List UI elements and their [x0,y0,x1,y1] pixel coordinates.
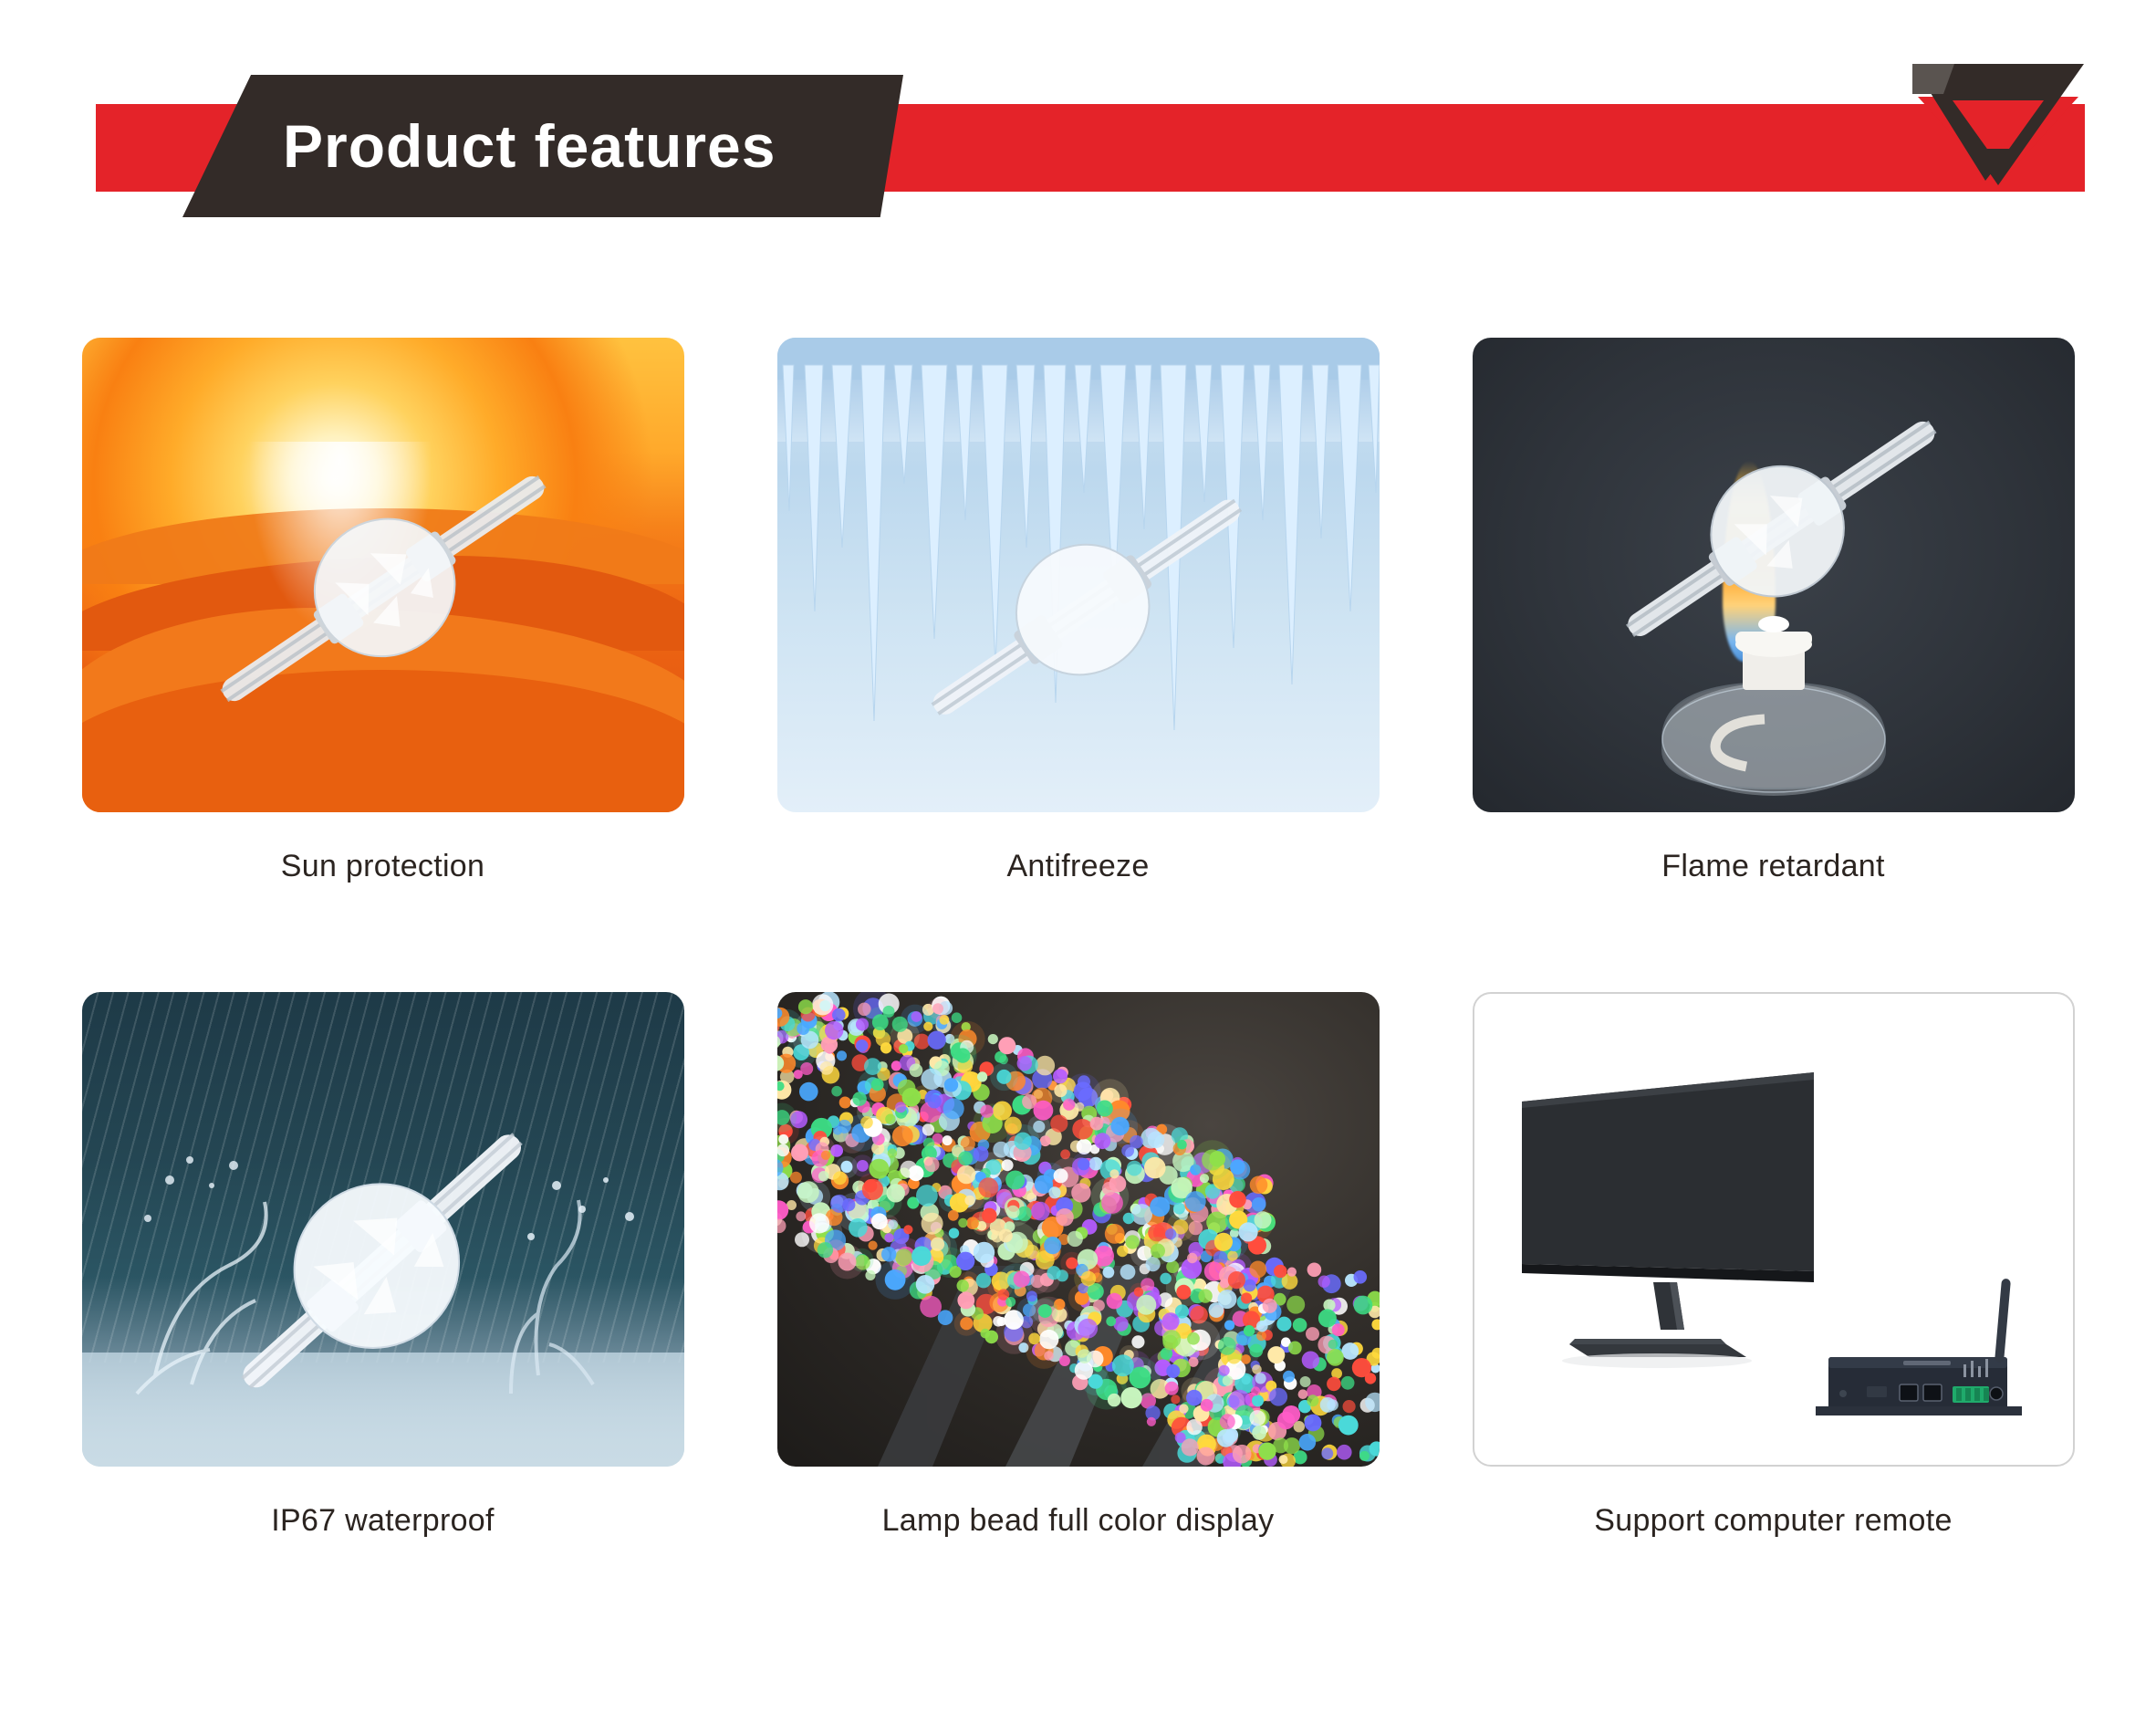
brand-triangle-v-logo [1907,53,2089,185]
feature-caption: Support computer remote [1473,1503,2075,1539]
feature-caption: Flame retardant [1473,849,2075,884]
desert-sunset-scene [82,338,684,812]
multicolor-led-beads-scene [777,992,1380,1467]
product-features-page: Product features [0,0,2156,1734]
alcohol-burner-scene [1473,338,2075,812]
feature-cell-ip67-waterproof: IP67 waterproof [82,992,684,1539]
page-header: Product features [0,0,2156,237]
feature-image-sun-protection[interactable] [82,338,684,812]
icicles-scene [777,338,1380,812]
water-splash-and-led-ball-icon [82,992,684,1467]
burner-and-led-ball-icon [1473,338,2075,812]
icicles-icon [777,338,1380,812]
led-beads-icon [777,992,1380,1467]
feature-cell-antifreeze: Antifreeze [777,338,1380,884]
feature-image-antifreeze[interactable] [777,338,1380,812]
rain-splash-scene [82,992,684,1467]
feature-image-lamp-bead-full-color-display[interactable] [777,992,1380,1467]
feature-cell-lamp-bead-full-color-display: Lamp bead full color display [777,992,1380,1539]
features-grid: Sun protection [0,338,2156,1539]
feature-image-support-computer-remote[interactable] [1473,992,2075,1467]
feature-cell-sun-protection: Sun protection [82,338,684,884]
feature-cell-support-computer-remote: Support computer remote [1473,992,2075,1539]
monitor-controller-scene [1474,994,2073,1465]
feature-caption: Lamp bead full color display [777,1503,1380,1539]
header-title-block: Product features [182,75,903,217]
feature-cell-flame-retardant: Flame retardant [1473,338,2075,884]
feature-caption: Sun protection [82,849,684,884]
feature-caption: Antifreeze [777,849,1380,884]
feature-image-flame-retardant[interactable] [1473,338,2075,812]
feature-caption: IP67 waterproof [82,1503,684,1539]
feature-image-ip67-waterproof[interactable] [82,992,684,1467]
page-title: Product features [182,111,776,181]
monitor-and-controller-icon [1474,994,2073,1465]
led-ball-product-icon [82,338,684,812]
